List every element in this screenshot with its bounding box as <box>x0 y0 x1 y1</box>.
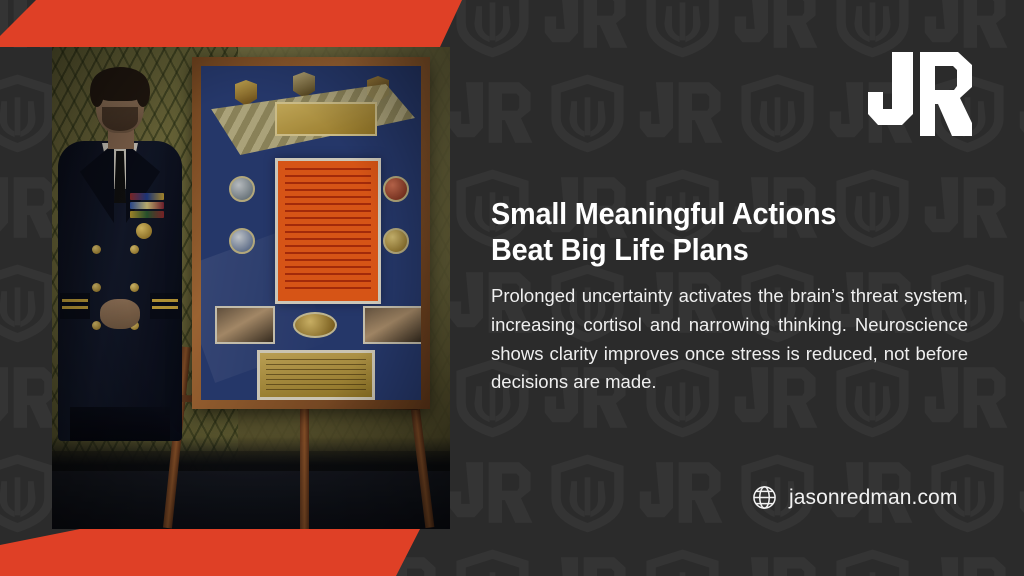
uniform-button <box>130 245 139 254</box>
uniform-button <box>92 245 101 254</box>
rank-stripe <box>152 299 178 302</box>
jr-monogram-tile <box>730 0 825 65</box>
challenge-coin <box>229 228 255 254</box>
red-accent-bar-bottom <box>0 529 420 576</box>
jr-monogram-tile <box>1015 255 1024 350</box>
challenge-coin <box>383 176 409 202</box>
globe-icon <box>751 484 778 511</box>
rank-stripe <box>152 306 178 309</box>
jr-monogram-tile <box>445 65 540 160</box>
page-title: Small Meaningful ActionsBeat Big Life Pl… <box>491 196 935 268</box>
beard <box>102 107 138 131</box>
orange-handwritten-letter <box>275 158 381 304</box>
headline-line-1: Small Meaningful Actions <box>491 196 836 231</box>
trident-shield-tile <box>635 540 730 576</box>
website-link[interactable]: jasonredman.com <box>751 484 957 511</box>
trident-shield-tile <box>635 0 730 65</box>
challenge-coin <box>383 228 409 254</box>
headline-line-2: Beat Big Life Plans <box>491 232 935 268</box>
gold-plaque-top <box>275 102 377 136</box>
uniform-button <box>92 283 101 292</box>
trident-shield-tile <box>445 0 540 65</box>
jr-monogram-tile <box>1015 65 1024 160</box>
shadow-box-mat <box>201 66 421 400</box>
uniform-trousers <box>70 407 170 441</box>
trident-shield-tile <box>445 540 540 576</box>
jr-monogram-tile <box>540 540 635 576</box>
service-ribbon <box>130 202 164 209</box>
military-patch <box>293 72 315 98</box>
body-paragraph: Prolonged uncertainty activates the brai… <box>491 282 968 397</box>
photo-floor <box>52 471 450 529</box>
framed-photograph <box>363 306 421 344</box>
trident-shield-tile <box>1015 160 1024 255</box>
service-ribbon <box>130 211 164 218</box>
jr-monogram-tile <box>635 445 730 540</box>
hair-side-left <box>90 77 104 107</box>
website-url-text: jasonredman.com <box>789 486 957 510</box>
challenge-coin <box>229 176 255 202</box>
trident-shield-tile <box>1015 540 1024 576</box>
certificate-text-lines <box>266 359 366 391</box>
trident-shield-tile <box>730 65 825 160</box>
uniform-button <box>130 283 139 292</box>
text-content-block: Small Meaningful ActionsBeat Big Life Pl… <box>491 196 968 397</box>
photo-navy-officer-with-shadow-box <box>52 47 450 529</box>
jr-monogram-tile <box>1015 445 1024 540</box>
trident-shield-tile <box>1015 350 1024 445</box>
jr-monogram-tile <box>445 445 540 540</box>
trident-shield-tile <box>1015 0 1024 65</box>
jr-logo-icon <box>866 52 974 136</box>
handwriting-lines <box>285 168 371 294</box>
hair-side-right <box>136 77 150 107</box>
clasped-hands <box>100 299 140 329</box>
uniform-medal <box>136 223 152 239</box>
uniform-button <box>92 321 101 330</box>
military-patch <box>235 80 257 106</box>
rank-stripe <box>62 306 88 309</box>
trident-shield-tile <box>540 445 635 540</box>
red-accent-bar-top <box>0 0 462 47</box>
trident-shield-tile <box>825 540 920 576</box>
framed-photograph <box>215 306 275 344</box>
rank-stripe <box>62 299 88 302</box>
service-ribbon <box>130 193 164 200</box>
jr-monogram-tile <box>730 540 825 576</box>
gold-certificate <box>257 350 375 400</box>
slide-canvas: Small Meaningful ActionsBeat Big Life Pl… <box>0 0 1024 576</box>
oval-insignia <box>293 312 337 338</box>
trident-shield-tile <box>540 65 635 160</box>
shadow-box-frame <box>192 57 430 409</box>
jr-monogram-tile <box>920 540 1015 576</box>
jr-monogram-tile <box>635 65 730 160</box>
jr-monogram-tile <box>540 0 635 65</box>
